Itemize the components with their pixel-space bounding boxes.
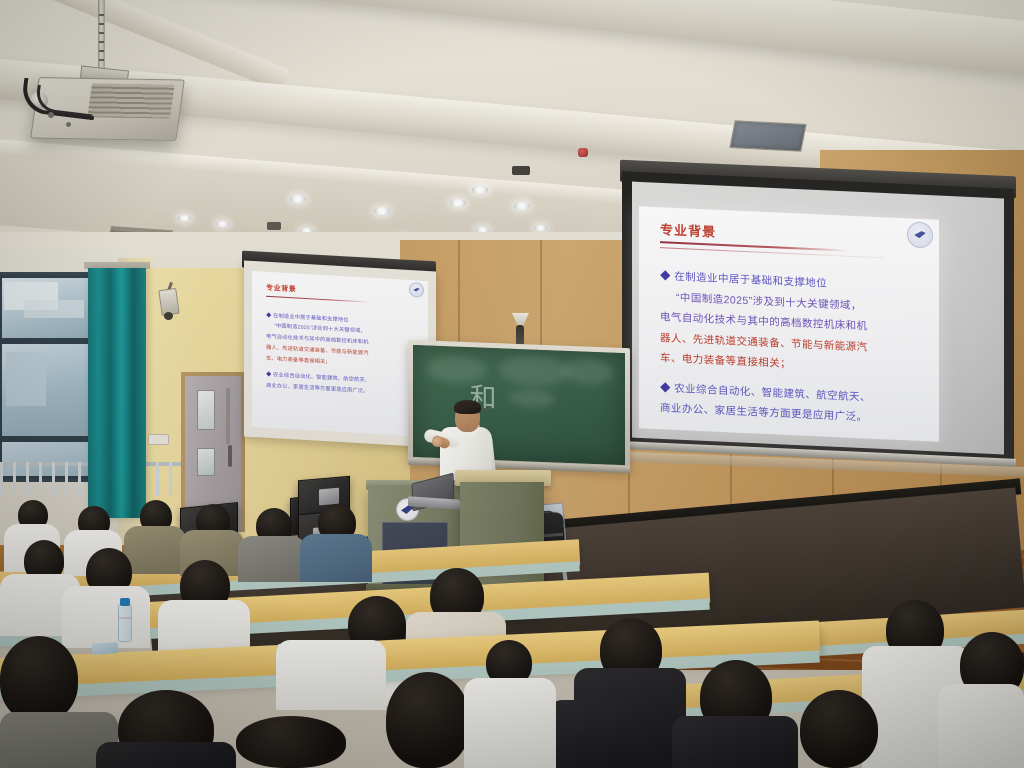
downlight-icon [216,221,229,227]
left-projection-screen[interactable]: 专业背景 ◆ 在制造业中居于基础和支撑地位 “中国制造2025”涉及到十大关键领… [252,271,428,437]
lecture-hall-photo: 专业背景 ◆ 在制造业中居于基础和支撑地位 “中国制造2025”涉及到十大关键领… [0,0,1024,768]
chalk-smudge [427,355,487,383]
audience-head [236,716,346,768]
presenter-hand [432,437,443,447]
projector-port [66,122,71,127]
downlight-icon [290,195,306,203]
slide-body: ◆ 在制造业中居于基础和支撑地位 “中国制造2025”涉及到十大关键领域， 电气… [266,310,416,400]
teal-curtain[interactable] [88,268,146,518]
bullet-marker: ◆ [660,270,671,282]
ceiling-air-vent-icon [729,120,806,152]
audience-torso [124,526,186,574]
audience-torso [672,716,798,768]
case-latch [319,488,339,506]
speaker-cone [164,312,173,320]
audience-head [0,636,78,722]
smartphone[interactable] [92,642,119,655]
audience-torso [300,534,372,582]
audience-head [386,672,470,768]
university-emblem-icon [907,221,933,248]
audience-torso [276,640,386,710]
projector-vent-grille [87,83,174,118]
slide-content: 专业背景 ◆ 在制造业中居于基础和支撑地位 “中国制造2025”涉及到十大关键领… [252,271,428,437]
door-vision-panel [197,390,215,430]
audience-torso [548,700,638,768]
slide-content: 专业背景 ◆ 在制造业中居于基础和支撑地位 “中国制造2025”涉及到十大关键领… [639,206,939,442]
ceiling-pole-head [267,222,281,230]
bottle-cap[interactable] [120,598,130,606]
right-projection-screen[interactable]: 专业背景 ◆ 在制造业中居于基础和支撑地位 “中国制造2025”涉及到十大关键领… [639,206,939,442]
smoke-detector-icon [578,148,588,157]
door-vision-panel [197,448,215,476]
downlight-icon [534,225,547,231]
bullet-text: 在制造业中居于基础和支撑地位 [674,271,827,290]
microphone-drop-pole [519,170,523,320]
slide-body: ◆ 在制造业中居于基础和支撑地位 “中国制造2025”涉及到十大关键领域， 电气… [660,266,921,430]
university-emblem-icon [409,282,424,298]
exterior-building [24,300,84,318]
ceiling-drop-pole [272,222,276,462]
microphone-pole-head [512,166,530,175]
door-push-bar[interactable] [226,388,230,444]
chalk-smudge [499,354,569,387]
chalk-smudge [563,359,613,385]
exterior-building [6,352,46,406]
slide-title-rule-2 [660,247,884,258]
audience-torso [464,678,556,768]
bullet-marker: ◆ [266,372,271,378]
audience-torso [938,684,1024,768]
wall-outlet[interactable] [148,434,169,445]
projector-port [48,112,54,118]
downlight-icon [374,207,390,215]
bullet-marker: ◆ [660,382,671,394]
downlight-icon [178,215,191,221]
water-bottle[interactable] [118,604,132,642]
presenter-hair [454,400,481,414]
audience-torso [96,742,236,768]
downlight-icon [472,186,488,194]
slide-title: 专业背景 [660,219,921,250]
door-handle[interactable] [228,445,232,467]
audience-torso [62,586,150,648]
downlight-icon [450,199,466,207]
audience-torso [238,536,306,582]
audience-head [800,690,878,768]
chalk-smudge [509,389,555,409]
bullet-marker: ◆ [266,312,271,318]
